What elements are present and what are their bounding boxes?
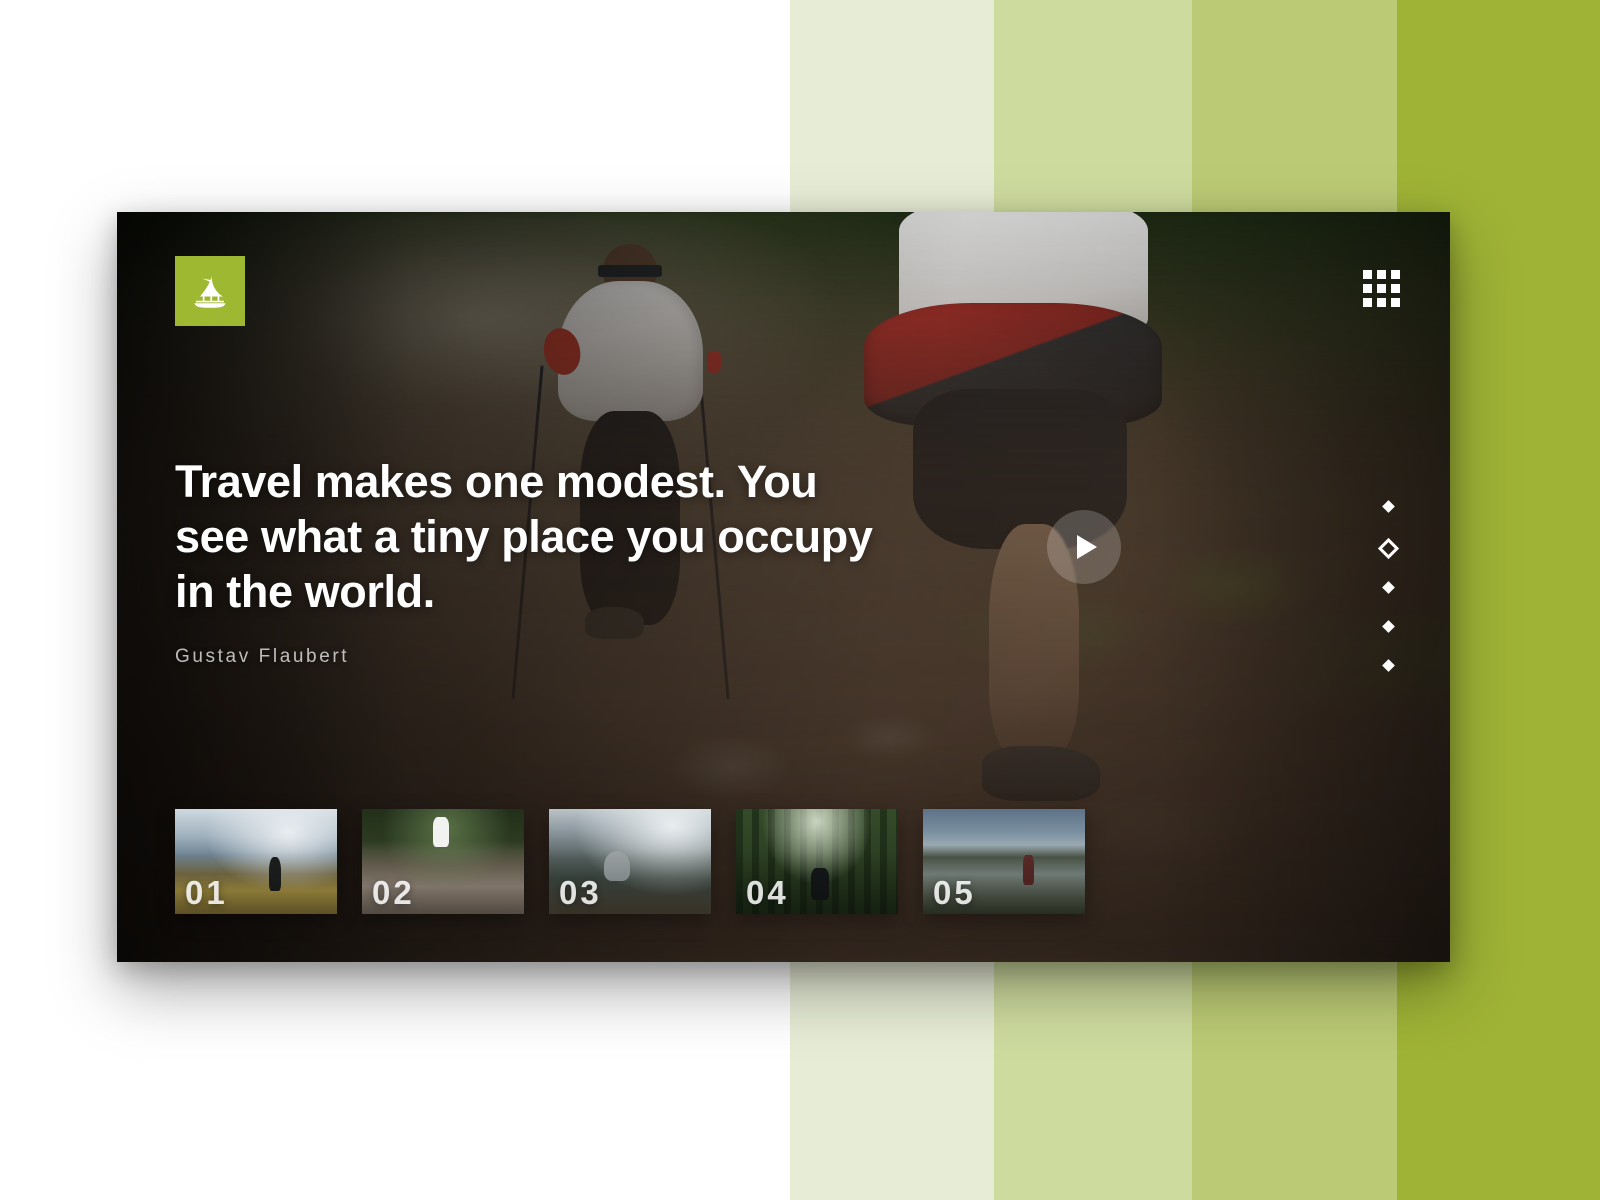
thumbnail-number: 04 [746, 874, 789, 912]
grid-menu-icon[interactable] [1363, 270, 1400, 307]
grid-cell [1377, 298, 1386, 307]
slide-pagination [1381, 502, 1396, 670]
quote-text: Travel makes one modest. You see what a … [175, 455, 875, 620]
thumbnail-number: 02 [372, 874, 415, 912]
pagination-dot-5[interactable] [1382, 659, 1395, 672]
grid-cell [1363, 284, 1372, 293]
play-button[interactable] [1047, 510, 1121, 584]
thumbnail-05[interactable]: 05 [923, 809, 1085, 914]
pagination-dot-2[interactable] [1378, 538, 1399, 559]
thumbnail-01[interactable]: 01 [175, 809, 337, 914]
thumbnail-number: 05 [933, 874, 976, 912]
sailboat-icon [190, 273, 230, 309]
grid-cell [1391, 284, 1400, 293]
thumbnail-04[interactable]: 04 [736, 809, 898, 914]
hero-card: Travel makes one modest. You see what a … [117, 212, 1450, 962]
thumbnail-number: 03 [559, 874, 602, 912]
pagination-dot-1[interactable] [1382, 500, 1395, 513]
thumbnail-number: 01 [185, 874, 228, 912]
pagination-dot-3[interactable] [1382, 581, 1395, 594]
brand-logo[interactable] [175, 256, 245, 326]
thumbnail-strip: 0102030405 [175, 809, 1085, 914]
play-icon [1077, 535, 1097, 559]
page-root: Travel makes one modest. You see what a … [0, 0, 1600, 1200]
grid-cell [1363, 298, 1372, 307]
thumbnail-02[interactable]: 02 [362, 809, 524, 914]
thumbnail-03[interactable]: 03 [549, 809, 711, 914]
grid-cell [1391, 270, 1400, 279]
grid-cell [1363, 270, 1372, 279]
pagination-dot-4[interactable] [1382, 620, 1395, 633]
grid-cell [1377, 270, 1386, 279]
grid-cell [1391, 298, 1400, 307]
quote-block: Travel makes one modest. You see what a … [175, 455, 875, 668]
grid-cell [1377, 284, 1386, 293]
quote-author: Gustav Flaubert [175, 646, 875, 668]
